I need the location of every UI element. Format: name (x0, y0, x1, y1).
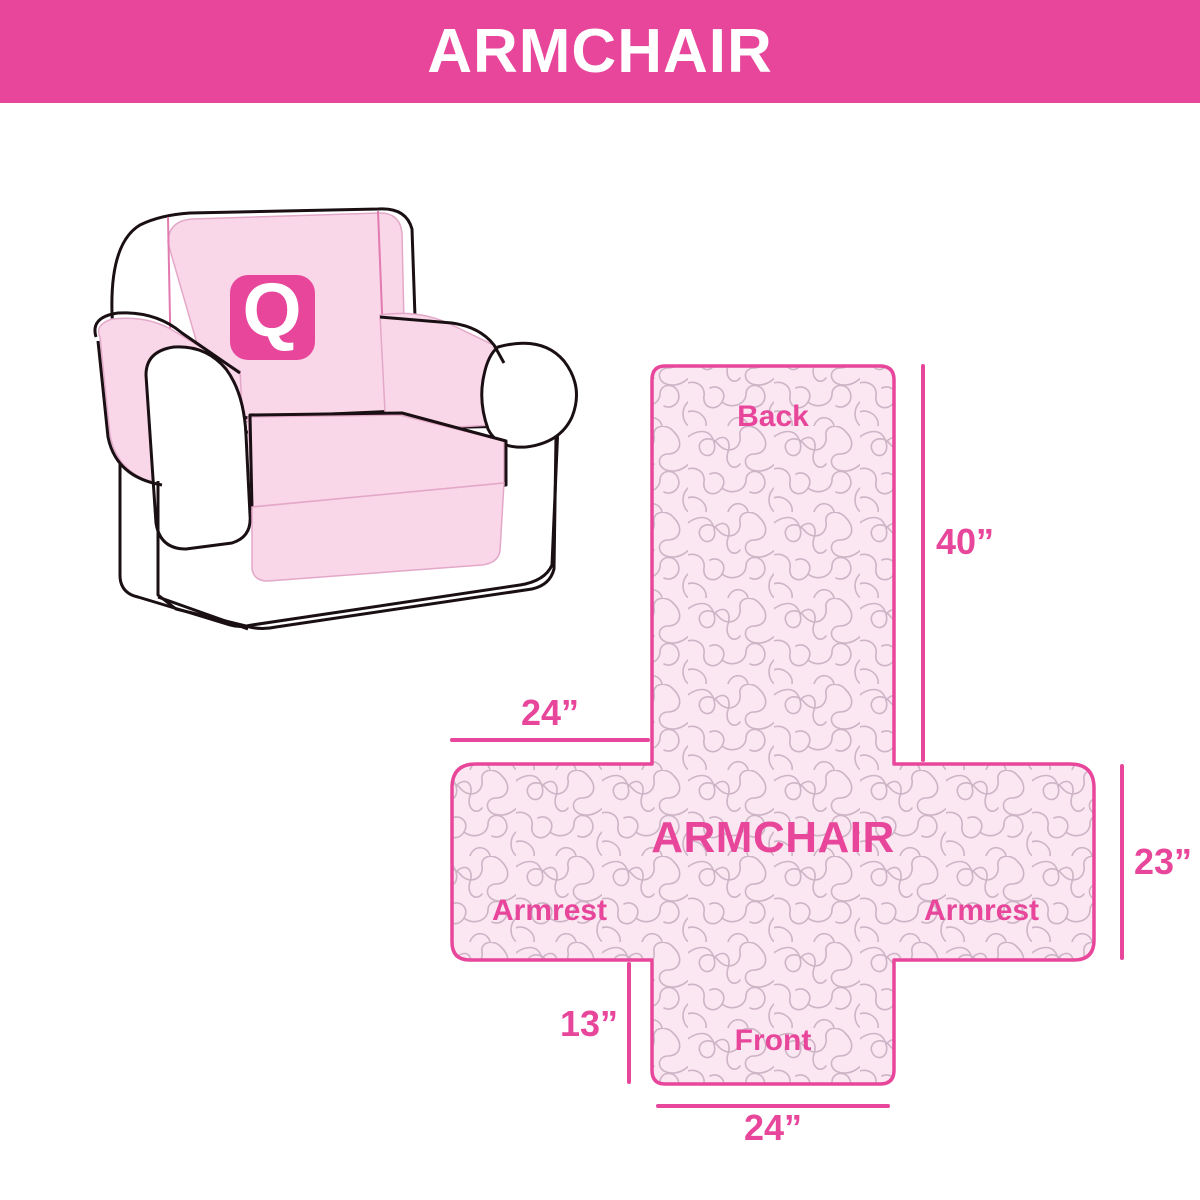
page-title: ARMCHAIR (427, 21, 773, 83)
panel-label-front: Front (735, 1024, 812, 1057)
panel-label-armrest-right: Armrest (924, 894, 1039, 927)
dimension-front-width: 24” (658, 1106, 888, 1140)
page-root: ARMCHAIR (0, 0, 1200, 1200)
dimension-body-height: 23” (1122, 766, 1190, 958)
dimension-armrest-width: 24” (452, 692, 648, 740)
dimension-value-40: 40” (936, 521, 994, 562)
dimension-value-24-bottom: 24” (744, 1107, 802, 1140)
q-badge-letter: Q (242, 268, 301, 353)
diagram-center-title: ARMCHAIR (651, 813, 895, 862)
slipcover-dimension-diagram: Back Armrest Armrest Front ARMCHAIR 40” … (430, 340, 1190, 1140)
brand-badge-q: Q (230, 268, 315, 360)
dimension-value-13: 13” (560, 1003, 618, 1044)
dimension-back-height: 40” (923, 366, 994, 760)
header-banner: ARMCHAIR (0, 0, 1200, 103)
dimension-front-height: 13” (560, 964, 629, 1082)
dimension-value-24-top: 24” (521, 692, 579, 733)
panel-label-armrest-left: Armrest (492, 894, 607, 927)
dimension-value-23: 23” (1134, 841, 1190, 882)
panel-label-back: Back (737, 400, 809, 433)
